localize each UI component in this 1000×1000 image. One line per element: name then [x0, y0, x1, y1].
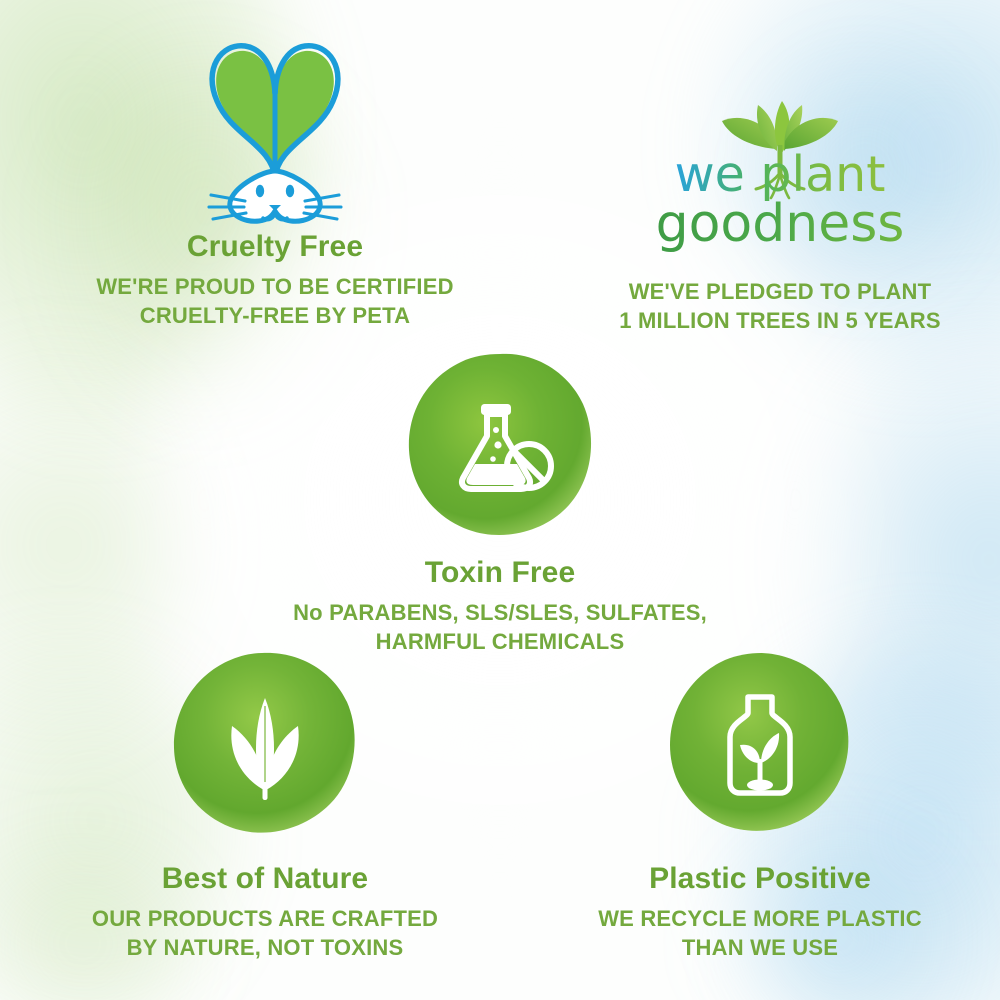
we-plant-goodness-sprout-logo: we plant goodness [560, 95, 1000, 255]
badge-grid: Cruelty Free WE'RE PROUD TO BE CERTIFIED… [0, 0, 1000, 1000]
badge-title-plastic-positive: Plastic Positive [535, 862, 985, 895]
badge-toxin-free: Toxin Free No PARABENS, SLS/SLES, SULFAT… [275, 350, 725, 656]
badge-title-cruelty-free: Cruelty Free [55, 230, 495, 263]
badge-cruelty-free: Cruelty Free WE'RE PROUD TO BE CERTIFIED… [55, 25, 495, 330]
badge-subtitle-we-plant-goodness: WE'VE PLEDGED TO PLANT 1 MILLION TREES I… [560, 277, 1000, 335]
badge-plastic-positive: Plastic Positive WE RECYCLE MORE PLASTIC… [535, 650, 985, 962]
bottle-glyph [665, 650, 855, 840]
flask-no-toxins-icon [405, 350, 595, 540]
badge-best-of-nature: Best of Nature OUR PRODUCTS ARE CRAFTED … [40, 650, 490, 962]
flask-glyph [405, 350, 595, 540]
badge-subtitle-plastic-positive: WE RECYCLE MORE PLASTIC THAN WE USE [535, 904, 985, 962]
badge-title-best-of-nature: Best of Nature [40, 862, 490, 895]
badge-subtitle-cruelty-free: WE'RE PROUD TO BE CERTIFIED CRUELTY-FREE… [55, 272, 495, 330]
badge-subtitle-best-of-nature: OUR PRODUCTS ARE CRAFTED BY NATURE, NOT … [40, 904, 490, 962]
leaves-glyph [170, 650, 360, 840]
peta-bunny-heart-ears-icon [55, 25, 495, 230]
badge-we-plant-goodness: we plant goodness WE'VE PLEDGED TO PLANT… [560, 95, 1000, 335]
bottle-with-sprout-icon [665, 650, 855, 840]
logo-line-2: goodness [656, 194, 905, 254]
badge-subtitle-toxin-free: No PARABENS, SLS/SLES, SULFATES, HARMFUL… [275, 598, 725, 656]
badge-title-toxin-free: Toxin Free [275, 556, 725, 589]
three-leaves-icon [170, 650, 360, 840]
